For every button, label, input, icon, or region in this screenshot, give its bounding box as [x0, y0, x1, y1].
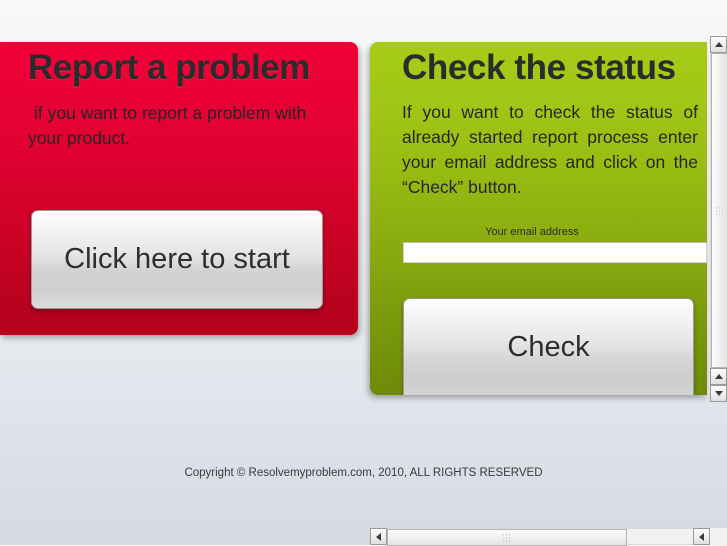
start-button-label: Click here to start	[64, 243, 290, 276]
check-status-panel: Check the status If you want to check th…	[370, 42, 707, 395]
report-problem-panel: Report a problem if you want to report a…	[0, 42, 358, 335]
scroll-up-button[interactable]	[710, 36, 727, 53]
arrow-left-icon	[699, 533, 704, 541]
horizontal-scrollbar-thumb[interactable]	[387, 529, 627, 546]
scroll-down-button[interactable]	[710, 385, 727, 402]
report-panel-title: Report a problem	[28, 48, 310, 88]
email-input[interactable]	[403, 242, 707, 263]
grip-dots-icon	[715, 206, 725, 215]
status-panel-title: Check the status	[402, 48, 676, 88]
vertical-scrollbar-thumb[interactable]	[711, 53, 727, 368]
horizontal-scrollbar-track[interactable]	[387, 528, 693, 545]
click-here-to-start-button[interactable]: Click here to start	[31, 210, 323, 309]
arrow-left-icon	[376, 533, 381, 541]
check-button-label: Check	[507, 331, 589, 364]
arrow-down-icon	[715, 391, 723, 396]
vertical-scrollbar-track[interactable]	[710, 53, 727, 368]
email-field-label: Your email address	[370, 226, 694, 238]
scroll-up-button-secondary[interactable]	[710, 368, 727, 385]
copyright-notice: Copyright © Resolvemyproblem.com, 2010, …	[0, 467, 727, 479]
scroll-left-button[interactable]	[370, 528, 387, 545]
status-panel-description: If you want to check the status of alrea…	[402, 100, 698, 200]
grip-dots-icon	[502, 533, 512, 542]
scrollbar-corner	[710, 528, 727, 545]
arrow-up-icon	[715, 42, 723, 47]
scroll-left-button-secondary[interactable]	[693, 528, 710, 545]
horizontal-scrollbar[interactable]	[370, 528, 727, 545]
arrow-up-icon	[715, 374, 723, 379]
page-viewport: Report a problem if you want to report a…	[0, 0, 727, 545]
vertical-scrollbar[interactable]	[710, 36, 727, 402]
check-button[interactable]: Check	[403, 298, 694, 395]
report-panel-description: if you want to report a problem with you…	[28, 101, 334, 151]
